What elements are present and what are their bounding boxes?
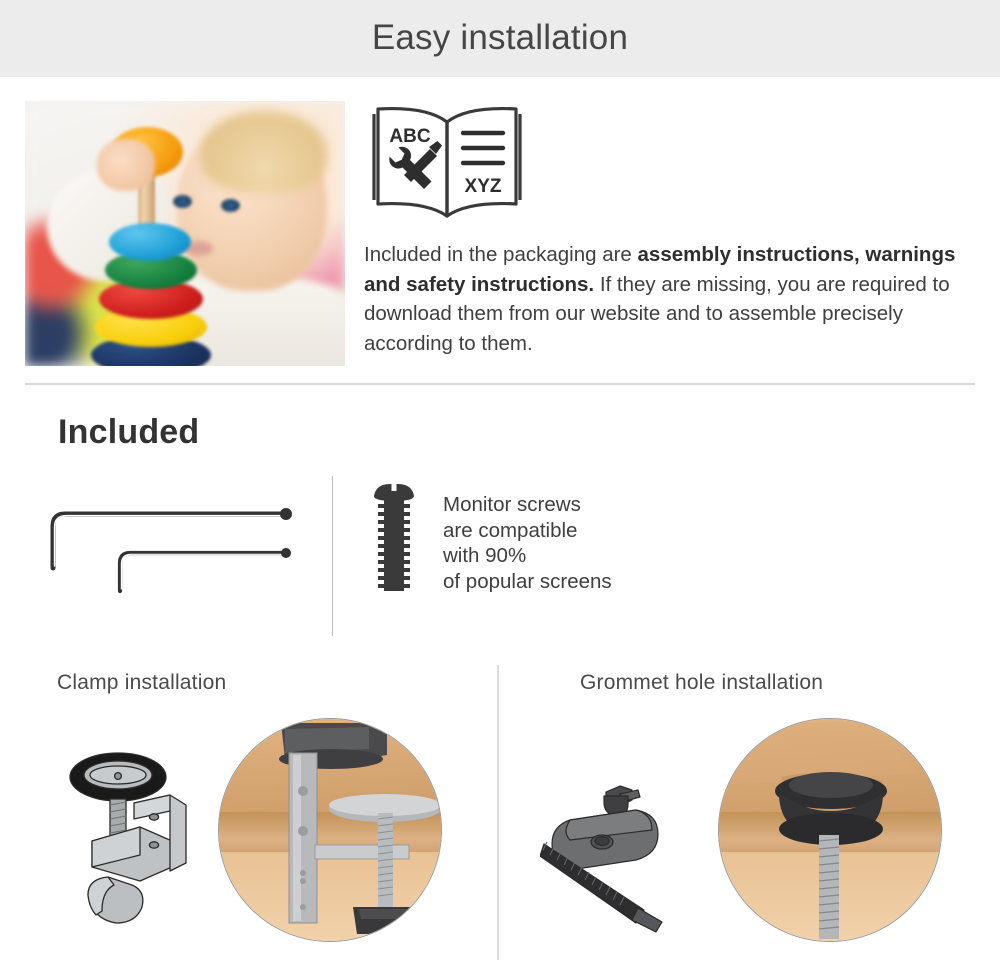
book-left-page-label: ABC: [389, 126, 430, 147]
page-title: Easy installation: [0, 17, 1000, 59]
clamp-photo-hardware: [219, 719, 441, 941]
included-divider-vertical: [332, 476, 333, 636]
screw-compatibility-text: Monitor screws are compatible with 90% o…: [443, 492, 743, 594]
screw-text-line-1: Monitor screws: [443, 492, 743, 518]
screw-text-line-2: are compatible: [443, 518, 743, 544]
paragraph-lead: Included in the packaging are: [364, 243, 638, 266]
instruction-manual-icon: ABC XYZ: [366, 100, 528, 222]
baby-stacking-toy-photo: [25, 101, 345, 366]
baby-hair: [201, 111, 327, 193]
toy-ring-blue: [109, 223, 191, 261]
baby-hand: [97, 139, 155, 191]
included-heading: Included: [58, 413, 199, 452]
allen-key-large-ball-end: [280, 508, 292, 520]
baby-eye-right: [221, 199, 240, 212]
allen-key-large: [53, 514, 282, 568]
grommet-photo-hardware: [719, 719, 941, 941]
clamp-photo-inner: [219, 719, 441, 941]
grommet-mounted-in-desk-photo: [718, 718, 942, 942]
installation-divider-vertical: [497, 665, 499, 960]
baby-eye-left: [173, 195, 192, 208]
section-divider-horizontal: [25, 383, 975, 385]
allen-hex-keys: [30, 480, 310, 600]
allen-key-small: [120, 553, 283, 591]
monitor-screw-icon: [370, 482, 418, 594]
clamp-installation-heading: Clamp installation: [57, 671, 226, 695]
grommet-installation-heading: Grommet hole installation: [580, 671, 823, 695]
desk-clamp-diagram: [62, 745, 202, 935]
grommet-photo-inner: [719, 719, 941, 941]
manual-paragraph: Included in the packaging are assembly i…: [364, 240, 976, 358]
allen-key-small-ball-end: [281, 548, 291, 558]
grommet-bolt-plate-diagram: [540, 778, 690, 933]
screw-text-line-3: with 90%: [443, 543, 743, 569]
book-right-page-label: XYZ: [465, 176, 502, 197]
wrench-screwdriver-icon: [389, 141, 442, 189]
clamp-mounted-on-desk-photo: [218, 718, 442, 942]
screw-text-line-4: of popular screens: [443, 569, 743, 595]
book-right-page-lines: [463, 133, 503, 163]
